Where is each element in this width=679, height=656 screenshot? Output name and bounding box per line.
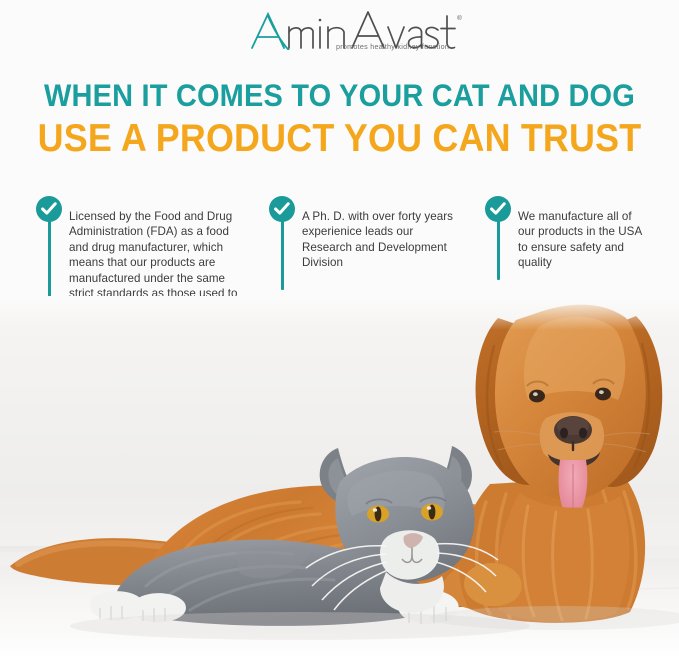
check-circle-icon xyxy=(36,196,62,222)
brand-logo: ® promotes healthy kidney function xyxy=(0,4,679,62)
headline-line-1: WHEN IT COMES TO YOUR CAT AND DOG xyxy=(27,80,652,112)
headline: WHEN IT COMES TO YOUR CAT AND DOG USE A … xyxy=(0,80,679,158)
dog-eye-right xyxy=(595,388,611,401)
benefit-text-2: A Ph. D. with over forty years experieni… xyxy=(302,209,454,271)
registered-mark-icon: ® xyxy=(457,14,462,22)
check-circle-icon xyxy=(485,196,511,222)
logo-tagline: promotes healthy kidney function xyxy=(336,42,449,51)
pet-illustration-svg xyxy=(0,296,679,656)
benefit-pin-3 xyxy=(485,196,511,222)
hero-photo-dog-and-cat xyxy=(0,296,679,656)
benefit-text-3: We manufacture all of our products in th… xyxy=(518,209,648,271)
check-icon xyxy=(274,202,290,216)
check-icon xyxy=(490,202,506,216)
benefit-pin-2 xyxy=(269,196,295,222)
dog-eye-left xyxy=(529,390,545,403)
benefit-stem-2 xyxy=(281,220,284,290)
benefit-stem-3 xyxy=(497,220,500,280)
headline-line-2: USE A PRODUCT YOU CAN TRUST xyxy=(27,119,652,158)
poster-root: ® promotes healthy kidney function WHEN … xyxy=(0,0,679,656)
check-circle-icon xyxy=(269,196,295,222)
check-icon xyxy=(41,202,57,216)
benefit-pin-1 xyxy=(36,196,62,222)
